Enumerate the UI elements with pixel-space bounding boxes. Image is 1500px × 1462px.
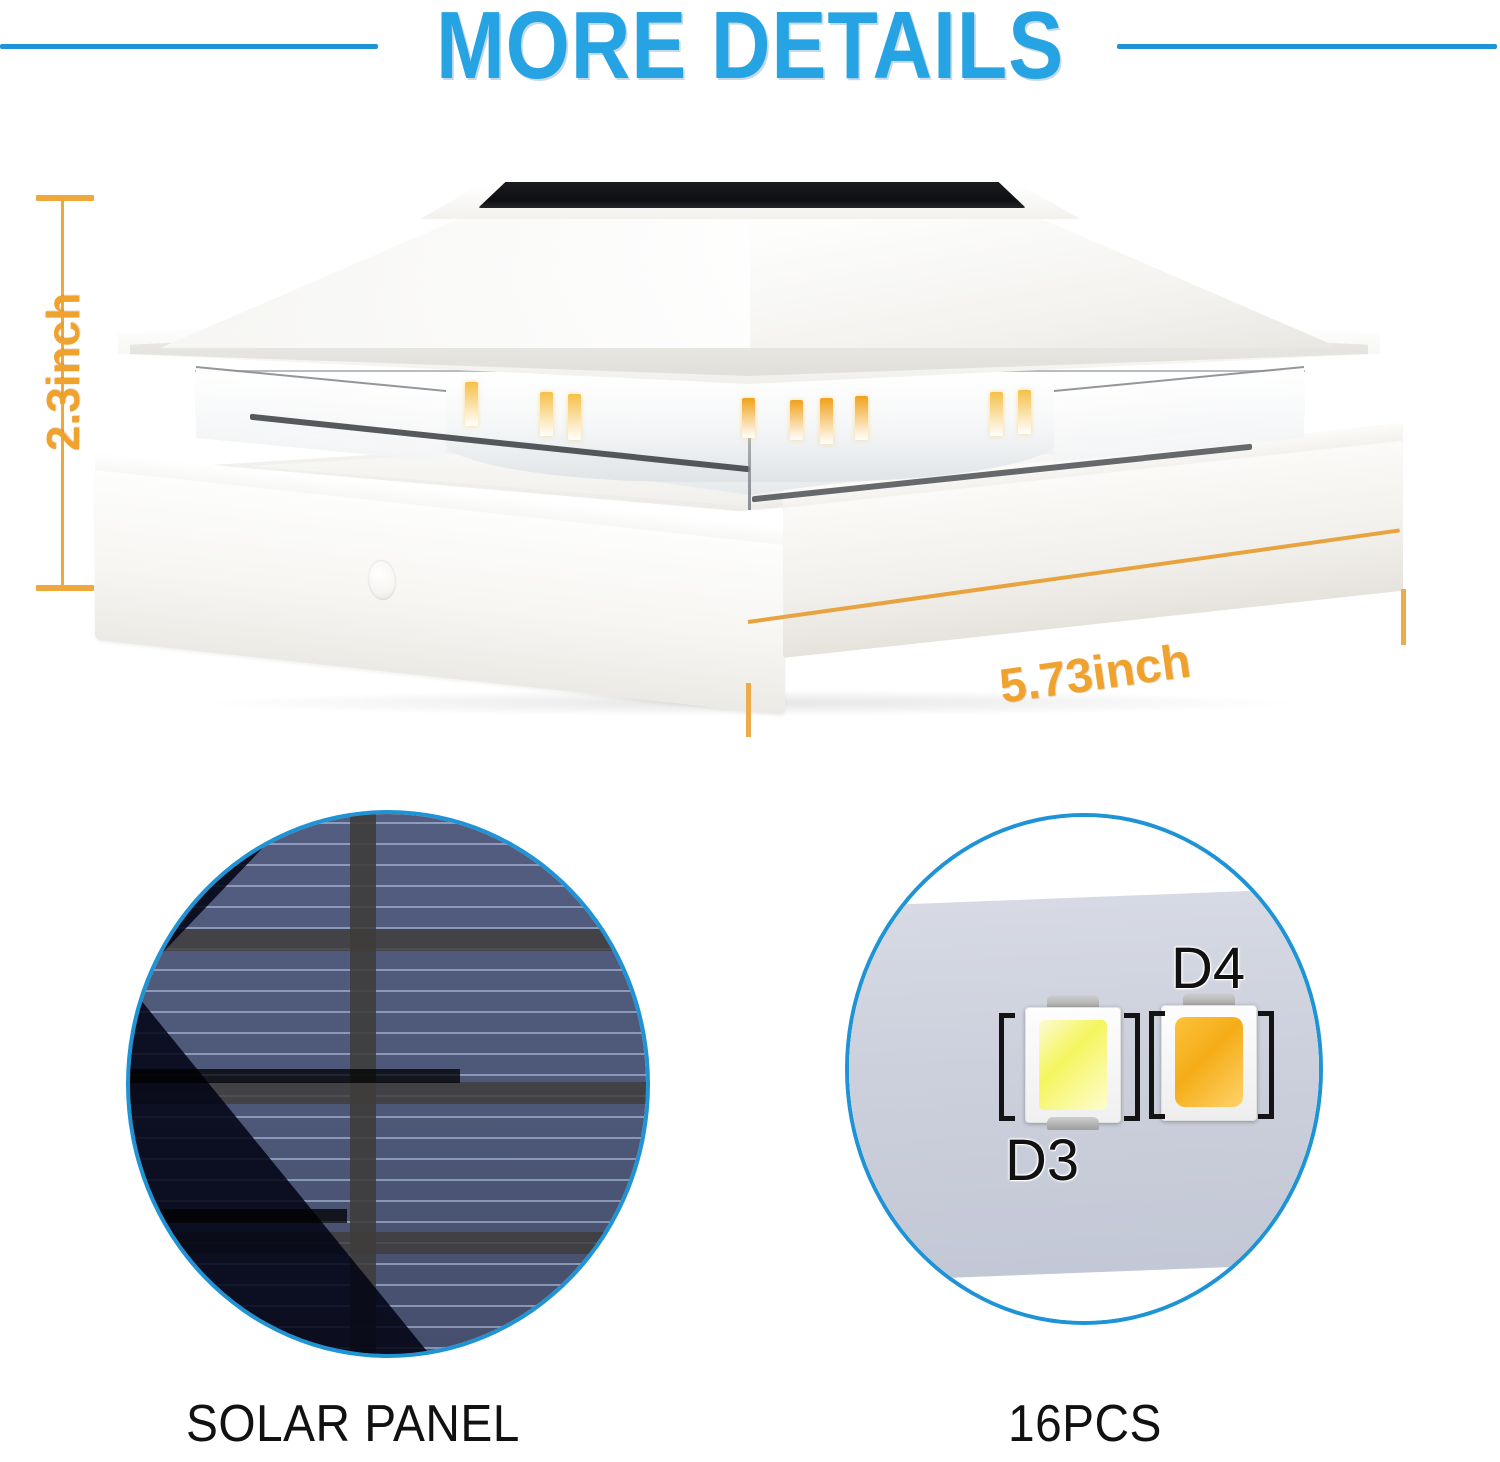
solar-dark-band-b (130, 1209, 347, 1223)
led-chip (790, 400, 803, 440)
d3-bracket-cap-br (1124, 1116, 1140, 1121)
led-chip (540, 392, 553, 436)
d3-measure-bracket-left (999, 1013, 1004, 1121)
base-front-face (95, 470, 785, 715)
d3-label: D3 (1005, 1127, 1079, 1194)
led-chip (742, 398, 755, 438)
caption-led-count: 16PCS (1008, 1394, 1162, 1454)
d4-bracket-cap-tl (1149, 1011, 1165, 1016)
d4-led-die (1175, 1017, 1243, 1107)
solar-finger-line (130, 1032, 646, 1034)
led-chip (568, 394, 581, 440)
d4-label: D4 (1171, 935, 1245, 1002)
d3-bracket-cap-bl (999, 1116, 1015, 1121)
d4-measure-bracket-right (1269, 1011, 1274, 1119)
solar-busbar-horizontal-top (130, 929, 646, 951)
d4-bracket-cap-tr (1258, 1011, 1274, 1016)
solar-finger-line (130, 1053, 646, 1055)
d3-bracket-cap-tr (1124, 1013, 1140, 1018)
inset-led-chips: D3 D4 (845, 813, 1323, 1325)
width-dimension-tick-left (746, 683, 751, 737)
solar-finger-line (130, 969, 646, 971)
product-hero-image: 2.3inch 5.73inch (0, 0, 1500, 620)
caption-solar-panel: SOLAR PANEL (186, 1394, 520, 1454)
inset-solar-panel (126, 810, 650, 1358)
diffuser-cap-left-facet (160, 200, 750, 348)
d4-measure-bracket-left (1149, 1011, 1154, 1119)
solar-panel-top (478, 182, 1026, 208)
led-chip (990, 392, 1003, 436)
led-chip (855, 396, 868, 440)
d4-bracket-cap-bl (1149, 1114, 1165, 1119)
product-detail-page: MORE DETAILS 2.3inch (0, 0, 1500, 1462)
solar-dark-band-a (130, 1069, 460, 1083)
led-chip (820, 398, 833, 444)
solar-finger-line (130, 906, 646, 908)
width-dimension-tick-right (1401, 589, 1406, 645)
d3-measure-bracket-right (1135, 1013, 1140, 1121)
d3-bracket-cap-tl (999, 1013, 1015, 1018)
height-dimension-tick-bottom (36, 585, 94, 591)
height-dimension-label: 2.3inch (36, 262, 90, 482)
led-chip (1018, 390, 1031, 434)
led-chip (465, 382, 478, 426)
height-dimension-tick-top (36, 195, 94, 201)
solar-finger-line (130, 990, 646, 992)
d3-led-die (1039, 1020, 1107, 1110)
solar-finger-line (130, 1011, 646, 1013)
d4-bracket-cap-br (1258, 1114, 1274, 1119)
